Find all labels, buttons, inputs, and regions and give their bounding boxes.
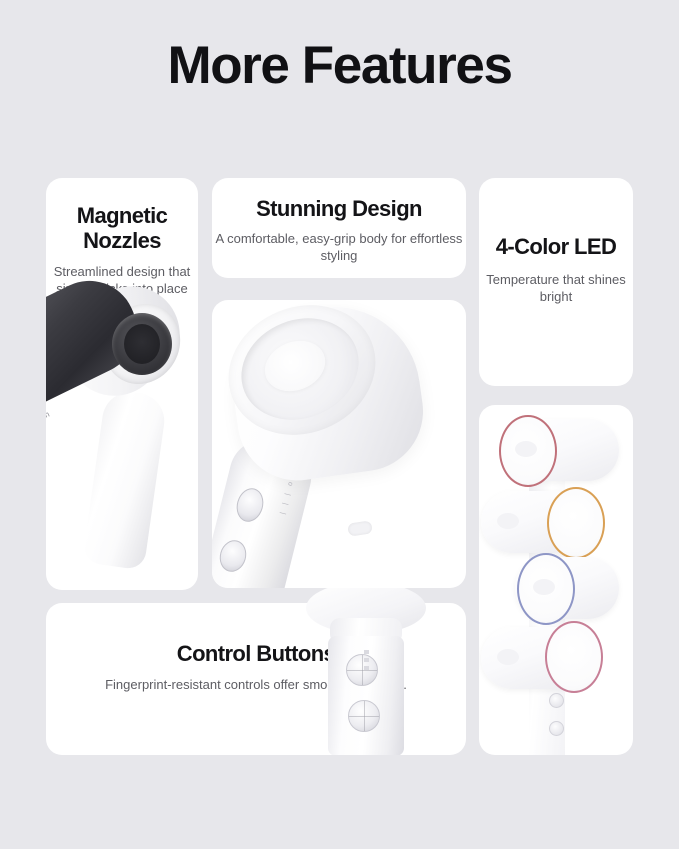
led-dimple-blue	[533, 579, 555, 595]
control-buttons-closeup-image	[300, 588, 466, 755]
led-stack-button-bottom	[549, 721, 564, 736]
control-button-upper	[346, 654, 378, 686]
control-button-lower	[348, 700, 380, 732]
led-dimple-pink	[497, 649, 519, 665]
card-hero-product-image[interactable]: o | | |	[212, 300, 466, 588]
card-stunning-design[interactable]: Stunning Design A comfortable, easy-grip…	[212, 178, 466, 278]
card-stunning-subtitle: A comfortable, easy-grip body for effort…	[212, 231, 466, 265]
led-stack-button-top	[549, 693, 564, 708]
card-led-subtitle: Temperature that shines bright	[479, 272, 633, 306]
dryer-handle-shape	[82, 389, 168, 571]
led-ring-pink	[545, 621, 603, 693]
led-dimple-orange	[497, 513, 519, 529]
magnetic-nozzle-image: on	[46, 178, 198, 590]
page-title: More Features	[0, 38, 679, 94]
led-ring-orange	[547, 487, 605, 559]
nozzle-brand-text: on	[46, 409, 51, 421]
card-led-stack-image[interactable]	[479, 405, 633, 755]
dryer-logo-plate	[347, 520, 373, 536]
card-four-color-led[interactable]: 4-Color LED Temperature that shines brig…	[479, 178, 633, 386]
card-led-title: 4-Color LED	[479, 235, 633, 260]
hair-dryer-hero-image: o | | |	[212, 300, 466, 588]
led-dimple-red	[515, 441, 537, 457]
control-indicator-dots	[364, 650, 369, 672]
card-stunning-title: Stunning Design	[212, 197, 466, 222]
nozzle-core	[124, 324, 160, 364]
card-magnetic-nozzles[interactable]: Magnetic Nozzles Streamlined design that…	[46, 178, 198, 590]
card-handle-closeup-image[interactable]	[300, 588, 466, 755]
four-color-led-stack-image	[479, 405, 633, 755]
